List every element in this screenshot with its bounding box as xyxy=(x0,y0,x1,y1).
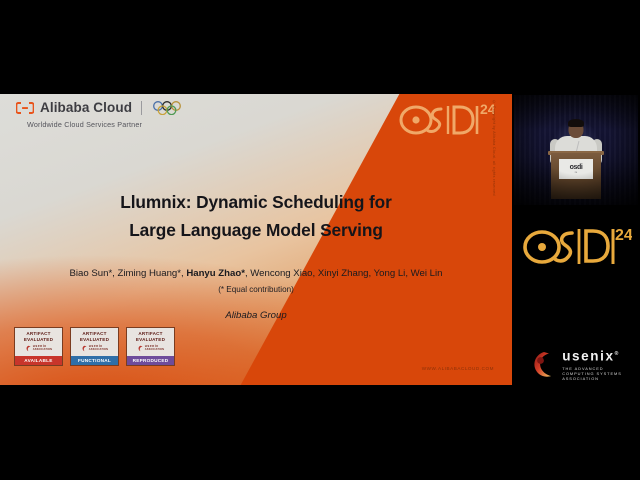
osdi-logo-icon: 24 xyxy=(398,96,494,142)
video-player-frame: Alibaba Cloud Worldwide Cloud Services P… xyxy=(0,0,640,480)
osdi-rail-year: 24 xyxy=(615,227,632,244)
logo-divider xyxy=(141,101,142,115)
alibaba-cloud-tagline: Worldwide Cloud Services Partner xyxy=(27,120,193,129)
equal-contribution-note: (* Equal contribution) xyxy=(0,282,512,297)
usenix-tagline-3: ASSOCIATION xyxy=(562,376,622,381)
badge-line-2: EVALUATED xyxy=(16,337,61,343)
badge-status: REPRODUCED xyxy=(127,356,174,365)
badge-status: AVAILABLE xyxy=(15,356,62,365)
badge-status: FUNCTIONAL xyxy=(71,356,118,365)
usenix-text: usenix® THE ADVANCED COMPUTING SYSTEMS A… xyxy=(562,348,622,382)
badge-header: ARTIFACT EVALUATED usenixASSOCIATION xyxy=(71,328,118,356)
osdi-slide-logo: 24 xyxy=(398,96,494,147)
artifact-badge-reproduced: ARTIFACT EVALUATED usenixASSOCIATION REP… xyxy=(126,327,175,366)
copyright-vertical-notice: © Copyright by Alibaba Cloud, all rights… xyxy=(492,100,496,196)
usenix-badge-logo-icon: usenixASSOCIATION xyxy=(16,344,61,352)
video-vignette xyxy=(514,95,638,205)
badge-line-2: EVALUATED xyxy=(72,337,117,343)
author-list: Biao Sun*, Ziming Huang*, Hanyu Zhao*, W… xyxy=(0,266,512,297)
authors-suffix: , Wencong Xiao, Xinyi Zhang, Yong Li, We… xyxy=(245,268,443,279)
badge-org-sub: ASSOCIATION xyxy=(145,348,164,352)
alibaba-cloud-logo: Alibaba Cloud Worldwide Cloud Services P… xyxy=(16,101,193,129)
alibaba-cloud-name: Alibaba Cloud xyxy=(40,101,132,115)
artifact-badges: ARTIFACT EVALUATED usenixASSOCIATION AVA… xyxy=(14,327,175,366)
affiliation: Alibaba Group xyxy=(0,310,512,321)
olympic-rings-icon xyxy=(151,101,193,115)
badge-org: usenixASSOCIATION xyxy=(33,344,52,352)
slide-title: Llumnix: Dynamic Scheduling for Large La… xyxy=(0,188,512,244)
badge-org-sub: ASSOCIATION xyxy=(33,348,52,352)
artifact-badge-functional: ARTIFACT EVALUATED usenixASSOCIATION FUN… xyxy=(70,327,119,366)
badge-org: usenixASSOCIATION xyxy=(89,344,108,352)
usenix-logo: usenix® THE ADVANCED COMPUTING SYSTEMS A… xyxy=(514,332,638,398)
title-line-2: Large Language Model Serving xyxy=(0,216,512,244)
badge-line-2: EVALUATED xyxy=(128,337,173,343)
usenix-badge-logo-icon: usenixASSOCIATION xyxy=(72,344,117,352)
osdi-rail-logo: 24 xyxy=(514,212,638,280)
usenix-name: usenix® xyxy=(562,348,622,363)
authors-prefix: Biao Sun*, Ziming Huang*, xyxy=(70,268,187,279)
slide-footer-url: WWW.ALIBABACLOUD.COM xyxy=(0,366,494,371)
author-highlighted: Hanyu Zhao* xyxy=(186,268,245,279)
usenix-swoosh-icon xyxy=(530,350,556,380)
badge-header: ARTIFACT EVALUATED usenixASSOCIATION xyxy=(15,328,62,356)
artifact-badge-available: ARTIFACT EVALUATED usenixASSOCIATION AVA… xyxy=(14,327,63,366)
usenix-trademark: ® xyxy=(615,351,620,357)
usenix-wordmark: usenix xyxy=(562,349,614,364)
badge-org: usenixASSOCIATION xyxy=(145,344,164,352)
badge-header: ARTIFACT EVALUATED usenixASSOCIATION xyxy=(127,328,174,356)
osdi-gold-logo-icon: 24 xyxy=(520,220,632,272)
usenix-badge-logo-icon: usenixASSOCIATION xyxy=(128,344,173,352)
alibaba-logo-row: Alibaba Cloud xyxy=(16,101,193,115)
title-line-1: Llumnix: Dynamic Scheduling for xyxy=(120,192,392,212)
speaker-video: osdi 24 xyxy=(514,95,638,205)
usenix-tagline: THE ADVANCED COMPUTING SYSTEMS ASSOCIATI… xyxy=(562,366,622,382)
alibaba-cloud-logo-icon xyxy=(16,102,34,114)
badge-org-sub: ASSOCIATION xyxy=(89,348,108,352)
